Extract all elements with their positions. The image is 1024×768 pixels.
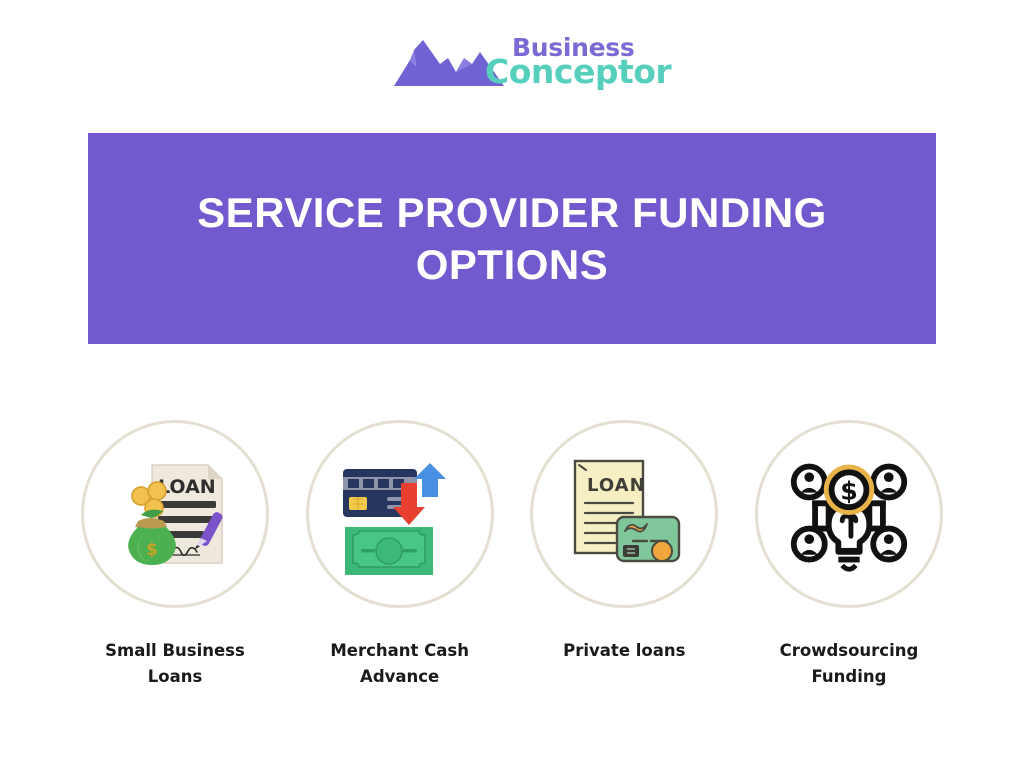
lightbulb-dollar-network-icon: $ [786,451,912,577]
credit-card-cash-exchange-icon [335,449,465,579]
loan-paper-green-card-icon: LOAN [559,449,689,579]
option-label: Private loans [563,638,685,664]
option-icon-circle [306,420,494,608]
option-label: Crowdsourcing Funding [761,638,936,689]
brand-word-bottom: Conceptor [485,55,671,88]
svg-text:LOAN: LOAN [158,476,216,498]
funding-options-row: LOAN $ [70,420,954,710]
option-card-small-business-loans[interactable]: LOAN $ [70,420,280,689]
loan-document-money-bag-icon: LOAN $ [110,449,240,579]
option-card-private-loans[interactable]: LOAN Private loans [519,420,729,664]
svg-text:$: $ [840,476,858,505]
option-icon-circle: LOAN $ [81,420,269,608]
option-label: Merchant Cash Advance [312,638,487,689]
option-icon-circle: LOAN [530,420,718,608]
option-icon-circle: $ [755,420,943,608]
option-card-crowdsourcing-funding[interactable]: $ Crowdsourcing Funding [744,420,954,689]
title-banner: SERVICE PROVIDER FUNDING OPTIONS [88,133,936,344]
option-label: Small Business Loans [88,638,263,689]
svg-text:LOAN: LOAN [587,475,646,496]
option-card-merchant-cash-advance[interactable]: Merchant Cash Advance [295,420,505,689]
brand-logo[interactable]: Business Conceptor [390,30,640,100]
svg-text:$: $ [146,540,158,560]
page-title: SERVICE PROVIDER FUNDING OPTIONS [162,187,862,289]
